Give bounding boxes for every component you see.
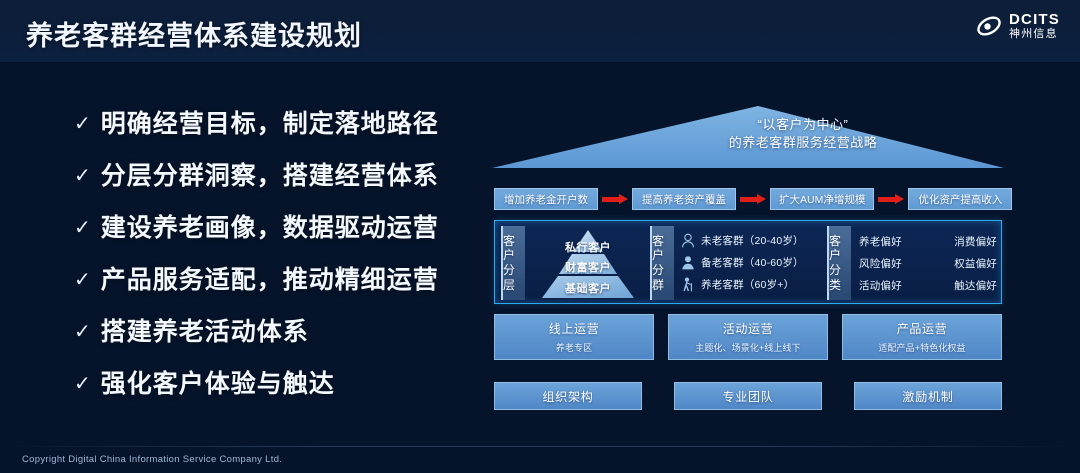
check-icon: ✓ (74, 373, 91, 393)
operation-box-product[interactable]: 产品运营 适配产品+特色化权益 (842, 314, 1002, 360)
group-section-label: 客户分群 (650, 226, 674, 300)
preference-cell: 活动偏好 (859, 278, 902, 293)
footer-divider (0, 446, 1080, 447)
operation-title: 活动运营 (723, 320, 773, 337)
foundation-box-org[interactable]: 组织架构 (494, 382, 642, 410)
operation-subtitle: 养老专区 (556, 341, 592, 354)
list-item-label: 明确经营目标，制定落地路径 (101, 104, 439, 140)
operation-title: 线上运营 (549, 320, 599, 337)
check-icon: ✓ (74, 269, 91, 289)
table-row: 养老偏好 消费偏好 (859, 230, 997, 252)
classify-section-label: 客户分类 (827, 226, 851, 300)
list-item: ✓ 搭建养老活动体系 (74, 312, 474, 348)
list-item: ✓ 明确经营目标，制定落地路径 (74, 104, 474, 140)
key-points-list: ✓ 明确经营目标，制定落地路径 ✓ 分层分群洞察，搭建经营体系 ✓ 建设养老画像… (74, 104, 474, 416)
brand-name-en: DCITS (1009, 12, 1060, 27)
group-label-3: 养老客群（60岁+） (701, 277, 794, 292)
list-item-label: 强化客户体验与触达 (101, 364, 335, 400)
roof-line-2: 的养老客群服务经营战略 (638, 134, 968, 152)
customer-tier-pyramid: 私行客户 财富客户 基础客户 (531, 227, 645, 299)
list-item-label: 搭建养老活动体系 (101, 312, 309, 348)
tier-level-3: 基础客户 (531, 280, 645, 296)
preference-cell: 养老偏好 (859, 234, 902, 249)
customer-preference-grid: 养老偏好 消费偏好 风险偏好 权益偏好 活动偏好 触达偏好 (859, 230, 997, 296)
list-item: 未老客群（20-40岁） (681, 229, 823, 251)
operation-title: 产品运营 (897, 320, 947, 337)
check-icon: ✓ (74, 217, 91, 237)
list-item: ✓ 产品服务适配，推动精细运营 (74, 260, 474, 296)
list-item-label: 产品服务适配，推动精细运营 (101, 260, 439, 296)
arrow-right-icon (878, 194, 904, 204)
strategy-roof-text: “以客户为中心” 的养老客群服务经营战略 (638, 116, 968, 153)
tier-level-2: 财富客户 (531, 259, 645, 275)
check-icon: ✓ (74, 113, 91, 133)
preference-cell: 触达偏好 (954, 278, 997, 293)
list-item-label: 建设养老画像，数据驱动运营 (101, 208, 439, 244)
swirl-logo-icon (976, 13, 1002, 39)
tier-level-1: 私行客户 (531, 239, 645, 255)
table-row: 活动偏好 触达偏好 (859, 274, 997, 296)
list-item: 备老客群（40-60岁） (681, 251, 823, 273)
goal-box-1[interactable]: 增加养老金开户数 (494, 188, 598, 210)
brand-text: DCITS 神州信息 (1009, 12, 1060, 40)
list-item-label: 分层分群洞察，搭建经营体系 (101, 156, 439, 192)
operation-subtitle: 适配产品+特色化权益 (878, 341, 965, 354)
adult-person-icon (681, 255, 695, 270)
elderly-person-icon (681, 277, 695, 292)
roof-line-1: “以客户为中心” (638, 116, 968, 134)
operations-row: 线上运营 养老专区 活动运营 主题化、场景化+线上线下 产品运营 适配产品+特色… (494, 314, 1002, 360)
goal-box-2[interactable]: 提高养老资产覆盖 (632, 188, 736, 210)
foundation-box-incentive[interactable]: 激励机制 (854, 382, 1002, 410)
check-icon: ✓ (74, 165, 91, 185)
customer-group-list: 未老客群（20-40岁） 备老客群（40-60岁） (681, 229, 823, 295)
young-person-icon (681, 233, 695, 248)
strategy-diagram: “以客户为中心” 的养老客群服务经营战略 增加养老金开户数 提高养老资产覆盖 扩… (488, 92, 1008, 432)
group-label-1: 未老客群（20-40岁） (701, 233, 804, 248)
brand-name-cn: 神州信息 (1009, 29, 1060, 40)
arrow-right-icon (602, 194, 628, 204)
list-item: ✓ 分层分群洞察，搭建经营体系 (74, 156, 474, 192)
goal-row: 增加养老金开户数 提高养老资产覆盖 扩大AUM净增规模 优化资产提高收入 (494, 188, 1002, 210)
list-item: ✓ 强化客户体验与触达 (74, 364, 474, 400)
preference-cell: 消费偏好 (954, 234, 997, 249)
brand-logo: DCITS 神州信息 (976, 12, 1060, 40)
tier-section-label: 客户分层 (501, 226, 525, 300)
foundation-row: 组织架构 专业团队 激励机制 (494, 382, 1002, 410)
foundation-box-team[interactable]: 专业团队 (674, 382, 822, 410)
goal-box-3[interactable]: 扩大AUM净增规模 (770, 188, 874, 210)
operation-box-online[interactable]: 线上运营 养老专区 (494, 314, 654, 360)
segmentation-panel: 客户分层 私行客户 财富客户 (494, 220, 1002, 304)
preference-cell: 权益偏好 (954, 256, 997, 271)
goal-box-4[interactable]: 优化资产提高收入 (908, 188, 1012, 210)
table-row: 风险偏好 权益偏好 (859, 252, 997, 274)
operation-box-campaign[interactable]: 活动运营 主题化、场景化+线上线下 (668, 314, 828, 360)
group-label-2: 备老客群（40-60岁） (701, 255, 804, 270)
preference-cell: 风险偏好 (859, 256, 902, 271)
arrow-right-icon (740, 194, 766, 204)
page-title: 养老客群经营体系建设规划 (26, 14, 362, 53)
list-item: 养老客群（60岁+） (681, 273, 823, 295)
operation-subtitle: 主题化、场景化+线上线下 (695, 341, 800, 354)
check-icon: ✓ (74, 321, 91, 341)
copyright-text: Copyright Digital China Information Serv… (22, 454, 282, 465)
list-item: ✓ 建设养老画像，数据驱动运营 (74, 208, 474, 244)
